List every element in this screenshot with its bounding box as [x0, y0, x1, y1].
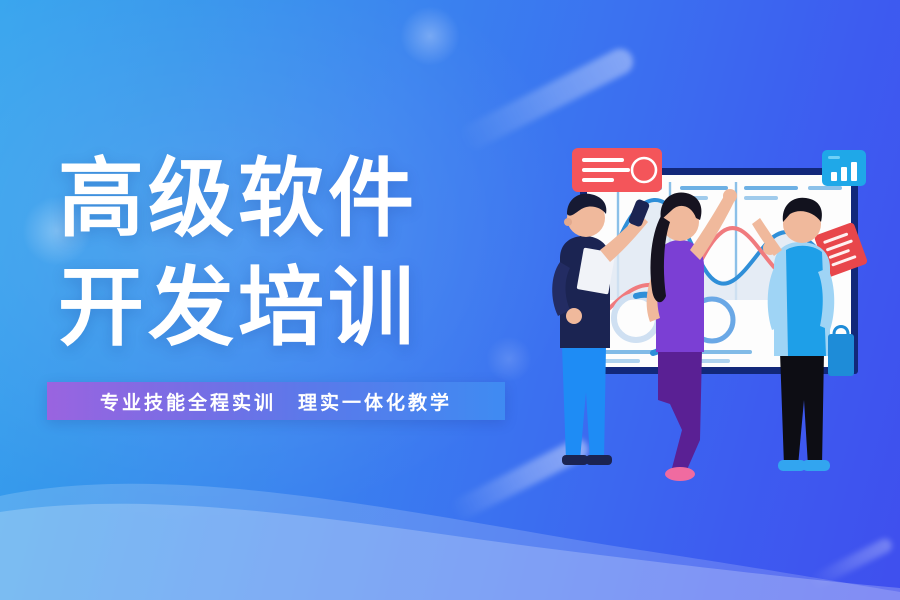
shoe-right: [802, 460, 830, 471]
hero-illustration: [540, 0, 900, 600]
shoe-right: [586, 455, 612, 465]
bar-1: [831, 172, 837, 181]
shoes: [665, 467, 695, 481]
shoe-left: [778, 460, 806, 471]
subtitle-right-text: 理实一体化教学: [298, 388, 452, 415]
hand-left: [566, 308, 582, 324]
soft-dot-icon: [400, 6, 460, 66]
ear: [564, 218, 572, 226]
soft-dot-icon: [486, 336, 532, 382]
page-title: 高级软件 开发培训: [58, 156, 418, 353]
bar-2: [841, 167, 847, 181]
subtitle-left-text: 专业技能全程实训: [100, 388, 276, 415]
red-info-card: [572, 148, 662, 192]
shoe-left: [562, 455, 588, 465]
subtitle-banner: 专业技能全程实训 理实一体化教学: [47, 382, 505, 420]
bar-3: [851, 162, 857, 181]
headline-line-2: 开发培训: [58, 265, 418, 353]
headline-line-1: 高级软件: [58, 156, 418, 244]
promo-banner: 高级软件 开发培训 专业技能全程实训 理实一体化教学: [0, 0, 900, 600]
bag: [828, 334, 854, 376]
hand-raised: [723, 189, 737, 203]
cyan-bar-chart-card: [822, 150, 866, 186]
